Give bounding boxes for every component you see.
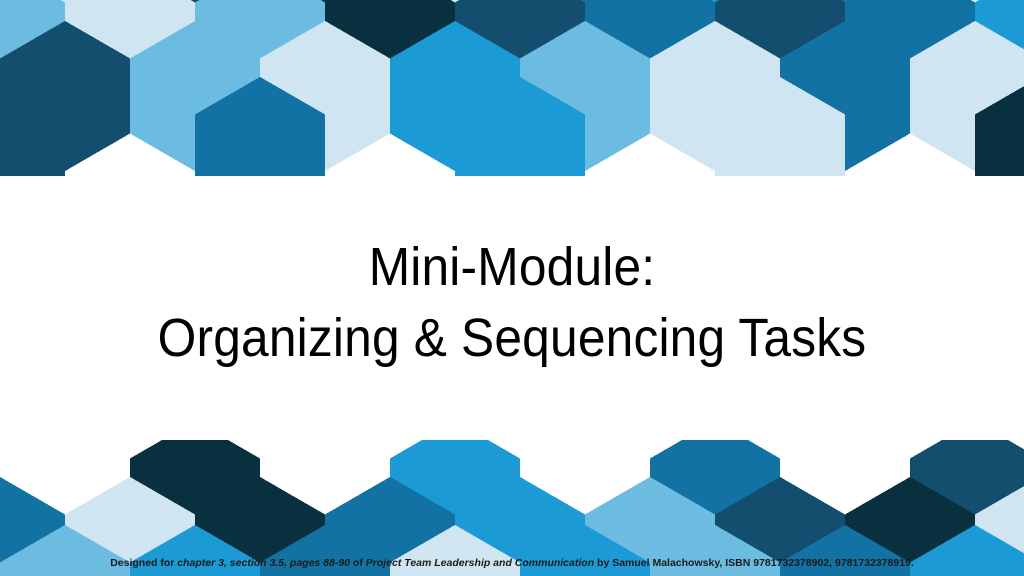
footer-prefix: Designed for <box>110 557 177 569</box>
hexagon-tile <box>130 0 260 59</box>
title-line-2: Organizing & Sequencing Tasks <box>41 303 983 374</box>
hexagon-tile <box>520 21 650 171</box>
hexagon-tile <box>0 0 65 115</box>
hexagon-tile <box>260 0 390 59</box>
hexagon-tile <box>780 21 910 171</box>
hexagon-tile <box>260 21 390 171</box>
hexagon-tile <box>910 0 1024 59</box>
footer-book-title: Project Team Leadership and Communicatio… <box>366 557 594 569</box>
page-title: Mini-Module: Organizing & Sequencing Tas… <box>0 232 1024 375</box>
hexagon-tile <box>650 440 780 571</box>
hexagon-tile <box>650 0 780 59</box>
hexagon-tile <box>585 0 715 115</box>
footer-author-isbn: by Samuel Malachowsky, ISBN 978173237890… <box>594 557 914 569</box>
top-hexagon-decoration-band <box>0 0 1024 176</box>
title-line-1: Mini-Module: <box>41 232 983 303</box>
hexagon-tile <box>130 440 260 571</box>
hexagon-tile <box>910 440 1024 571</box>
hexagon-tile <box>130 21 260 171</box>
footer-chapter-citation: chapter 3, section 3.5, pages 88-90 <box>177 557 350 569</box>
slide-canvas: Mini-Module: Organizing & Sequencing Tas… <box>0 0 1024 576</box>
hexagon-tile <box>195 0 325 115</box>
top-hexagon-svg <box>0 0 1024 176</box>
hexagon-tile <box>975 77 1024 176</box>
hexagon-tile <box>975 0 1024 115</box>
hexagon-tile <box>195 77 325 176</box>
hexagon-tile <box>715 0 845 115</box>
hexagon-tile <box>455 77 585 176</box>
hexagon-tile <box>520 0 650 59</box>
hexagon-tile <box>0 21 130 171</box>
hexagon-tile <box>0 77 65 176</box>
hexagon-tile <box>650 21 780 171</box>
hexagon-tile <box>325 0 455 115</box>
hexagon-tile <box>0 0 130 59</box>
hexagon-tile <box>455 0 585 115</box>
hexagon-tile <box>390 0 520 59</box>
hexagon-tile <box>845 0 975 115</box>
hexagon-tile <box>390 21 520 171</box>
hexagon-tile <box>910 21 1024 171</box>
hexagon-tile <box>715 77 845 176</box>
hexagon-tile <box>65 0 195 115</box>
hexagon-tile <box>390 440 520 571</box>
hexagon-tile <box>780 0 910 59</box>
footer-attribution: Designed for chapter 3, section 3.5, pag… <box>0 556 1024 570</box>
footer-connector: of <box>350 557 366 569</box>
